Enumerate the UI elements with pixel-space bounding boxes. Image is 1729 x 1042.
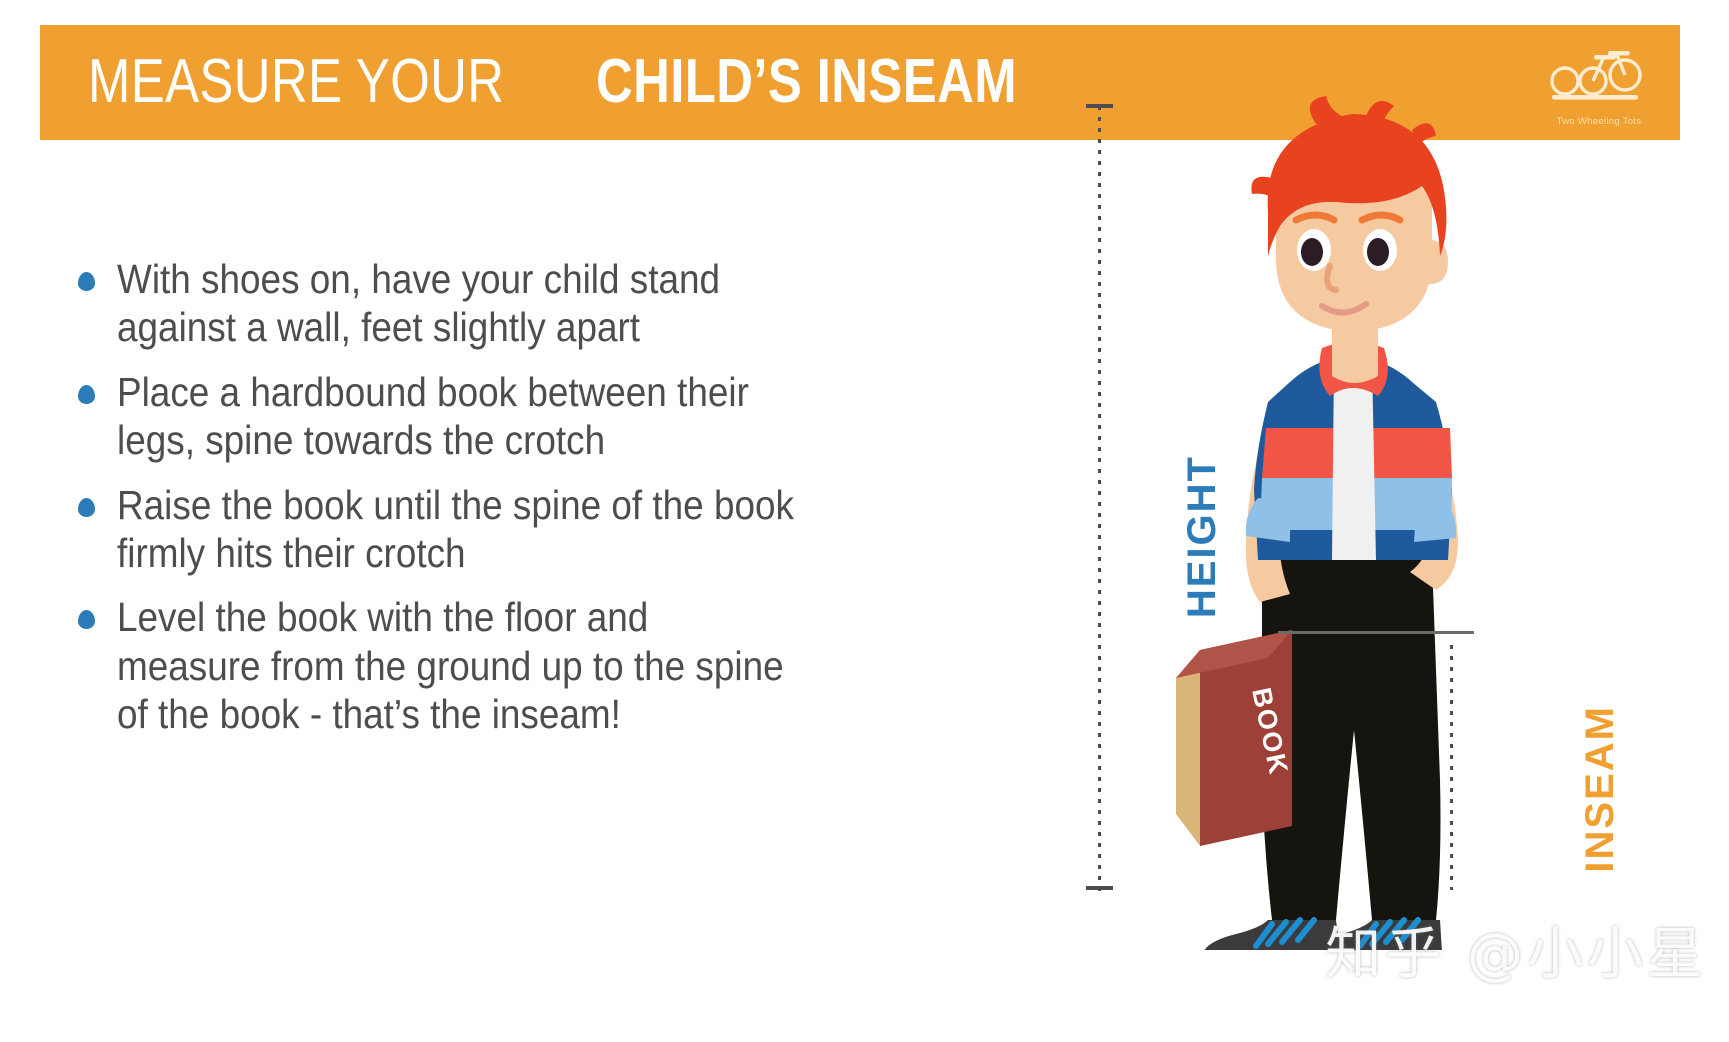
left-pupil xyxy=(1301,238,1323,266)
inseam-dotted-line xyxy=(1450,645,1453,890)
page-title: MEASURE YOUR CHILD’S INSEAM xyxy=(88,46,1109,117)
bullet-dot-icon xyxy=(78,498,95,517)
list-item-label: Level the book with the floor and measur… xyxy=(117,593,919,738)
list-item: Raise the book until the spine of the bo… xyxy=(78,481,1008,578)
page-title-bold: CHILD’S INSEAM xyxy=(596,46,1017,117)
ear xyxy=(1426,240,1448,284)
bicycle-with-training-wheels-icon xyxy=(1546,45,1652,103)
height-dotted-line xyxy=(1098,106,1101,892)
shirt-placket xyxy=(1332,362,1376,560)
list-item-label: Raise the book until the spine of the bo… xyxy=(117,481,919,578)
infographic-canvas: MEASURE YOUR CHILD’S INSEAM Two Wheeling… xyxy=(0,0,1729,1042)
height-tick-bottom xyxy=(1086,886,1113,890)
list-item: With shoes on, have your child stand aga… xyxy=(78,255,1008,352)
bullet-dot-icon xyxy=(78,272,95,291)
book: BOOK xyxy=(1176,630,1294,846)
boy-standing-with-book-illustration: BOOK xyxy=(1140,90,1560,950)
instructions-list: With shoes on, have your child stand aga… xyxy=(78,255,1008,754)
bullet-dot-icon xyxy=(78,610,95,629)
list-item-label: With shoes on, have your child stand aga… xyxy=(117,255,919,352)
list-item: Level the book with the floor and measur… xyxy=(78,593,1008,738)
inseam-label: INSEAM xyxy=(1578,705,1623,873)
right-pupil xyxy=(1367,238,1389,266)
watermark: 知乎 @小小星 xyxy=(1325,909,1707,990)
hair-spike-4 xyxy=(1251,177,1276,200)
book-pages xyxy=(1176,650,1200,846)
page-title-thin: MEASURE YOUR xyxy=(88,46,504,117)
bullet-dot-icon xyxy=(78,385,95,404)
crotch-level-line xyxy=(1278,631,1474,634)
list-item: Place a hardbound book between their leg… xyxy=(78,368,1008,465)
list-item-label: Place a hardbound book between their leg… xyxy=(117,368,919,465)
